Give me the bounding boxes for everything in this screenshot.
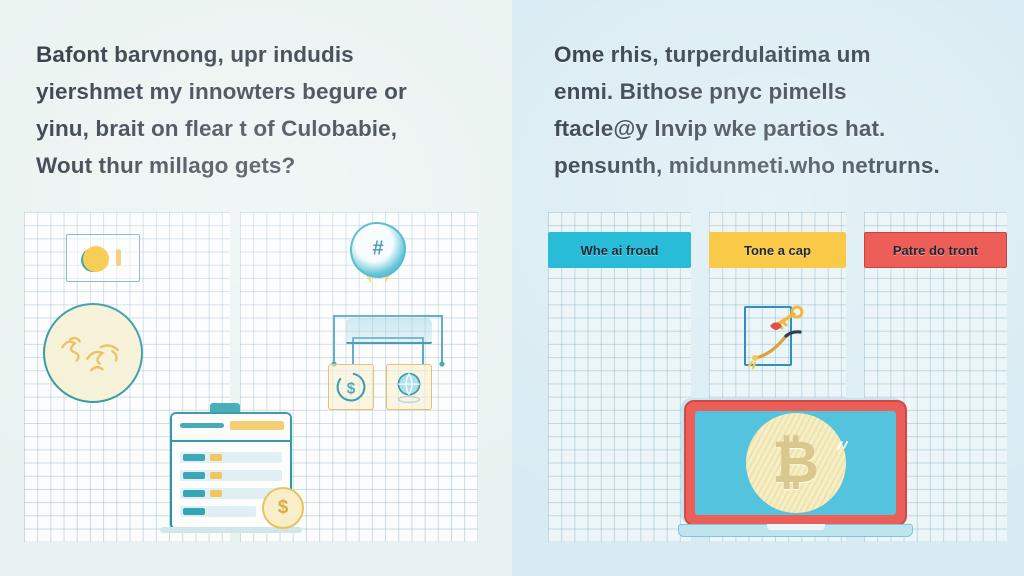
left-headline: Bafont barvnong, upr indudis yiershmet m… bbox=[36, 36, 476, 184]
award-rosette-icon: # bbox=[350, 222, 406, 278]
tab-tone-a-cap[interactable]: Tone a cap bbox=[709, 232, 846, 268]
right-headline: Ome rhis, turperdulaitima um enmi. Bitho… bbox=[554, 36, 1006, 184]
tab-patre-do-tront[interactable]: Patre do tront bbox=[864, 232, 1007, 268]
document-with-keys bbox=[742, 300, 816, 378]
left-panel: Bafont barvnong, upr indudis yiershmet m… bbox=[0, 0, 512, 576]
headline-line: Ome rhis, turperdulaitima um bbox=[554, 36, 1006, 73]
laptop-lid: ₿ bbox=[684, 400, 907, 526]
header-bar-icon bbox=[180, 423, 224, 428]
header-highlight-icon bbox=[230, 421, 284, 430]
headline-line: enmi. Bithose pnyc pimells bbox=[554, 73, 1006, 110]
engraved-coin-icon bbox=[43, 303, 143, 403]
bar-icon bbox=[116, 249, 121, 266]
svg-text:$: $ bbox=[347, 381, 356, 398]
tab-whe-ai-froad[interactable]: Whe ai froad bbox=[548, 232, 691, 268]
device-coin-icon: $ bbox=[262, 487, 304, 529]
row-value-icon bbox=[210, 490, 222, 497]
slide-root: Bafont barvnong, upr indudis yiershmet m… bbox=[0, 0, 1024, 576]
headline-line: pensunth, midunmeti.who netrurns. bbox=[554, 147, 1006, 184]
row-label-icon bbox=[183, 508, 205, 515]
globe-node bbox=[386, 364, 432, 410]
currency-node: $ bbox=[328, 364, 374, 410]
headline-line: ftacle@y lnvip wke partios hat. bbox=[554, 110, 1006, 147]
headline-line: Wout thur millago gets? bbox=[36, 147, 476, 184]
coin-icon bbox=[83, 246, 109, 272]
laptop-bitcoin: ₿ bbox=[678, 400, 913, 540]
framed-coin-card bbox=[66, 234, 140, 282]
laptop-screen: ₿ bbox=[695, 411, 896, 515]
list-item bbox=[180, 470, 282, 481]
headline-line: Bafont barvnong, upr indudis bbox=[36, 36, 476, 73]
row-label-icon bbox=[183, 472, 205, 479]
laptop-notch bbox=[767, 524, 825, 530]
row-value-icon bbox=[210, 454, 222, 461]
sparkle-icon bbox=[836, 437, 850, 451]
row-label-icon bbox=[183, 490, 205, 497]
row-label-icon bbox=[183, 454, 205, 461]
cloud-node bbox=[346, 318, 432, 344]
badge-glyph: # bbox=[372, 237, 383, 260]
list-item bbox=[180, 506, 256, 517]
row-value-icon bbox=[210, 472, 222, 479]
device-header bbox=[172, 414, 290, 442]
bitcoin-coin-icon: ₿ bbox=[746, 413, 846, 513]
headline-line: yinu, brait on flear t of Culobabie, bbox=[36, 110, 476, 147]
list-item bbox=[180, 452, 282, 463]
flow-diagram: $ bbox=[318, 290, 458, 410]
headline-line: yiershmet my innowters begure or bbox=[36, 73, 476, 110]
